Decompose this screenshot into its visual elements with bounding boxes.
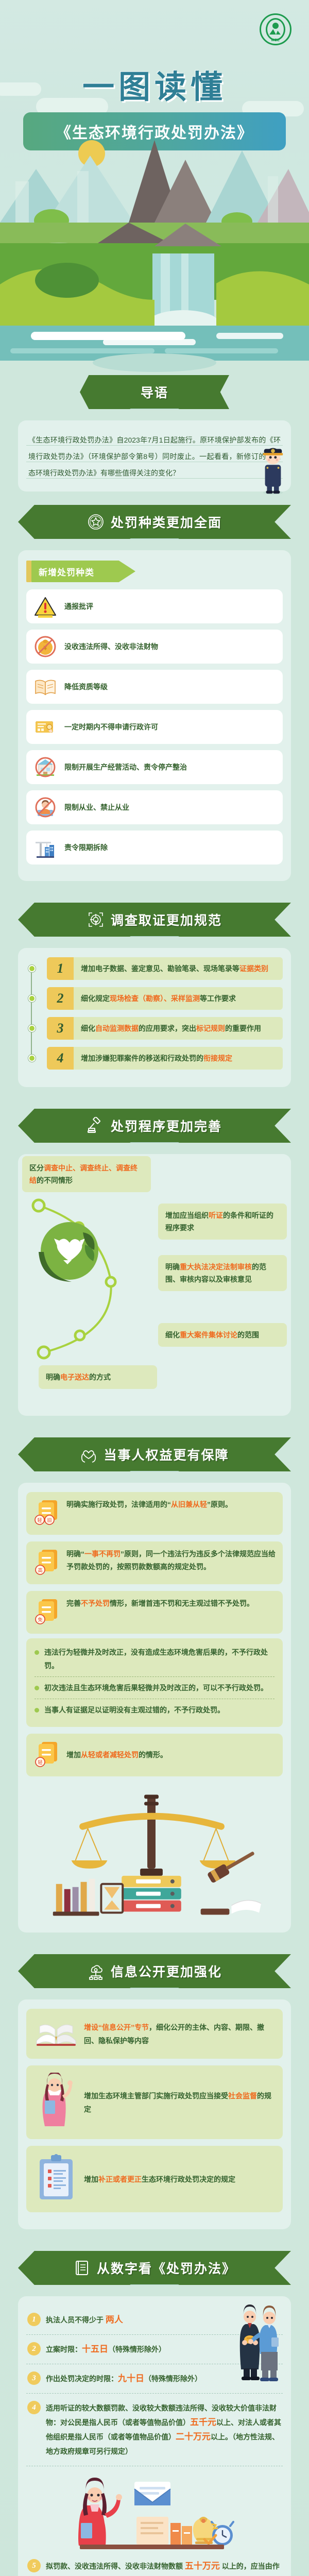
list-item-label: 通报批评 xyxy=(64,601,93,612)
emblem-label: MEE xyxy=(261,39,290,42)
bullet-text: 初次违法且生态环境危害后果轻微并及时改正的，可以不予行政处罚。 xyxy=(44,1681,268,1694)
procedure-bubble: 明确电子送达的方式 xyxy=(39,1365,157,1389)
procedure-bubble: 区分调查中止、调查终止、调查终结的不同情形 xyxy=(22,1156,151,1192)
woman-with-envelope-icon xyxy=(70,2469,239,2552)
svg-text:轻: 轻 xyxy=(37,1517,42,1523)
rights-row: 免 完善不予处罚情形，新增首违不罚和无主观过错不予处罚。 xyxy=(26,1591,283,1634)
numbers-card: 1 执法人员不得少于 两人 2 立案时限：十五日（特殊情形除外） 3 作出处罚决… xyxy=(18,2296,291,2576)
no-factory-icon xyxy=(33,755,57,779)
disclosure-row-text: 增加补正或者更正生态环境行政处罚决定的规定 xyxy=(84,2173,276,2186)
timeline-row: 2 细化规定现场检查（勘察）、采样监测等工作要求 xyxy=(47,987,283,1010)
mee-emblem-icon: MEE xyxy=(260,13,291,45)
row-text: 增加电子数据、鉴定意见、勘验笔录、现场笔录等证据类别 xyxy=(74,957,283,980)
row-text: 适用听证的较大数额罚款、没收较大数额违法所得、没收较大价值非法财物：对公民是指人… xyxy=(46,2401,282,2459)
no-worker-icon xyxy=(33,795,57,819)
number-row: 5 拟罚款、没收违法所得、没收非法财物数额 五十万元 以上的，应当由作出处罚决定… xyxy=(26,2552,283,2576)
target-scan-icon xyxy=(87,911,105,928)
investigation-timeline: 1 增加电子数据、鉴定意见、勘验笔录、现场笔录等证据类别 2 细化规定现场检查（… xyxy=(26,957,283,1070)
gavel-icon xyxy=(87,1117,105,1134)
list-item-label: 一定时期内不得申请行政许可 xyxy=(64,722,158,732)
list-item: 限制从业、禁止从业 xyxy=(26,790,283,824)
disclosure-row-text: 增设“信息公开”专节，细化公开的主体、内容、期限、撤回、隐私保护等内容 xyxy=(84,2021,276,2047)
section-banner-procedure: 处罚程序更加完善 xyxy=(18,1109,291,1143)
row-number: 1 xyxy=(47,957,74,980)
list-item: 限制开展生产经营活动、责令停产整治 xyxy=(26,750,283,784)
section-banner-numbers: 从数字看《处罚办法》 xyxy=(18,2251,291,2285)
sublabel-new-penalty-types: 新增处罚种类 xyxy=(26,561,135,582)
stamp-high-icon: 高 xyxy=(33,1548,61,1578)
penalty-types-card: 新增处罚种类 通报批评 ¥ 没收违法所得、没收非法财物 降低资质等级 一定时期内… xyxy=(18,550,291,881)
section-banner-intro: 导语 xyxy=(80,375,229,409)
warning-triangle-icon xyxy=(33,595,57,618)
rights-row: 轻旧 明确实施行政处罚，法律适用的“从旧兼从轻”原则。 xyxy=(26,1492,283,1535)
sublabel-text: 新增处罚种类 xyxy=(39,565,94,578)
banner-label: 从数字看《处罚办法》 xyxy=(97,2259,236,2277)
bullet-text: 违法行为轻微并及时改正，没有造成生态环境危害后果的，不予行政处罚。 xyxy=(44,1646,274,1672)
row-number: 4 xyxy=(27,2401,41,2414)
row-text: 细化自动监测数据的应用要求，突出标记规则的重要作用 xyxy=(74,1017,283,1040)
rights-card: 轻旧 明确实施行政处罚，法律适用的“从旧兼从轻”原则。 高 明确“一事不再罚”原… xyxy=(18,1483,291,1933)
svg-text:旧: 旧 xyxy=(47,1518,51,1523)
section-banner-penalty-types: 处罚种类更加全面 xyxy=(18,505,291,539)
timeline-row: 1 增加电子数据、鉴定意见、勘验笔录、现场笔录等证据类别 xyxy=(47,957,283,980)
procedure-bubble: 明确重大执法决定法制审核的范围、审核内容以及审核意见 xyxy=(158,1255,287,1291)
stamp-exempt-icon: 免 xyxy=(33,1597,61,1628)
svg-text:免: 免 xyxy=(38,1617,42,1622)
timeline-dot xyxy=(28,1055,36,1062)
rights-row-text: 明确“一事不再罚”原则，同一个违法行为违反多个法律规范应当给予罚款处罚的，按照罚… xyxy=(66,1548,276,1578)
disclosure-row-text: 增加生态环境主管部门实施行政处罚应当接受社会监督的规定 xyxy=(84,2089,276,2116)
row-number: 1 xyxy=(27,2313,41,2326)
rights-row-text: 完善不予处罚情形，新增首违不罚和无主观过错不予处罚。 xyxy=(66,1597,276,1628)
procedure-bubble: 增加应当组织听证的条件和听证的程序要求 xyxy=(158,1204,287,1240)
row-number: 2 xyxy=(47,987,74,1010)
rights-bullets: 违法行为轻微并及时改正，没有造成生态环境危害后果的，不予行政处罚。 初次违法且生… xyxy=(26,1638,283,1727)
disclosure-row: 增设“信息公开”专节，细化公开的主体、内容、期限、撤回、隐私保护等内容 xyxy=(26,2009,283,2059)
number-row: 4 适用听证的较大数额罚款、没收较大数额违法所得、没收较大价值非法财物：对公民是… xyxy=(26,2394,283,2466)
list-item-label: 降低资质等级 xyxy=(64,682,108,692)
svg-text:高: 高 xyxy=(38,1567,42,1573)
cloud-network-icon xyxy=(87,1962,105,1980)
svg-text:轻: 轻 xyxy=(38,1759,42,1765)
intro-card: 《生态环境行政处罚办法》自2023年7月1日起施行。原环境保护部发布的《环境行政… xyxy=(18,420,291,492)
open-book-icon xyxy=(33,675,57,699)
scales-of-justice-icon xyxy=(26,1783,283,1922)
row-text: 拟罚款、没收违法所得、没收非法财物数额 五十万元 以上的，应当由作出处罚决定的生… xyxy=(46,2559,282,2576)
hands-heart-icon xyxy=(80,1446,97,1463)
row-number: 3 xyxy=(27,2371,41,2385)
list-item-label: 限制开展生产经营活动、责令停产整治 xyxy=(64,762,187,772)
timeline-dot xyxy=(28,995,36,1002)
two-officials-icon xyxy=(236,2300,288,2382)
list-item: 通报批评 xyxy=(26,589,283,623)
book-lines-icon xyxy=(73,2259,91,2277)
bullet-item: 当事人有证据足以证明没有主观过错的，不予行政处罚。 xyxy=(35,1699,274,1721)
row-number: 3 xyxy=(47,1017,74,1040)
row-number: 2 xyxy=(27,2342,41,2355)
banner-label: 信息公开更加强化 xyxy=(111,1962,222,1980)
banner-label: 处罚种类更加全面 xyxy=(111,513,222,531)
rights-row-text: 明确实施行政处罚，法律适用的“从旧兼从轻”原则。 xyxy=(66,1498,276,1529)
banner-label: 调查取证更加规范 xyxy=(111,910,222,929)
procedure-bubble: 细化重大案件集体讨论的范围 xyxy=(158,1323,287,1347)
crane-demolition-icon xyxy=(33,836,57,859)
timeline-dot xyxy=(28,965,36,972)
disclosure-card: 增设“信息公开”专节，细化公开的主体、内容、期限、撤回、隐私保护等内容 增加生态… xyxy=(18,1999,291,2229)
section-banner-investigation: 调查取证更加规范 xyxy=(18,903,291,937)
list-item: 责令限期拆除 xyxy=(26,831,283,865)
section-banner-disclosure: 信息公开更加强化 xyxy=(18,1954,291,1988)
section-banner-rights: 当事人权益更有保障 xyxy=(18,1437,291,1471)
waterfall-landscape-illustration xyxy=(0,223,309,398)
list-item: 一定时期内不得申请行政许可 xyxy=(26,710,283,744)
star-medal-icon xyxy=(87,513,105,531)
open-book-white-icon xyxy=(33,2016,79,2052)
clipboard-icon xyxy=(33,2153,79,2205)
woman-pointing-icon xyxy=(33,2073,79,2132)
police-officer-icon xyxy=(258,441,288,495)
bullet-item: 违法行为轻微并及时改正，没有造成生态环境危害后果的，不予行政处罚。 xyxy=(35,1641,274,1677)
list-item-label: 没收违法所得、没收非法财物 xyxy=(64,641,158,652)
row-number: 4 xyxy=(47,1047,74,1070)
banner-label: 导语 xyxy=(141,383,168,401)
row-text: 增加涉嫌犯罪案件的移送和行政处罚的衔接规定 xyxy=(74,1047,283,1070)
rights-row: 轻 增加从轻或者减轻处罚的情形。 xyxy=(26,1734,283,1776)
rights-row-text: 增加从轻或者减轻处罚的情形。 xyxy=(66,1749,276,1761)
timeline-row: 3 细化自动监测数据的应用要求，突出标记规则的重要作用 xyxy=(47,1017,283,1040)
disclosure-row: 增加补正或者更正生态环境行政处罚决定的规定 xyxy=(26,2146,283,2212)
row-text: 细化规定现场检查（勘察）、采样监测等工作要求 xyxy=(74,987,283,1010)
investigation-card: 1 增加电子数据、鉴定意见、勘验笔录、现场笔录等证据类别 2 细化规定现场检查（… xyxy=(18,948,291,1087)
list-item-label: 责令限期拆除 xyxy=(64,842,108,853)
no-money-bag-icon: ¥ xyxy=(33,635,57,658)
banner-label: 处罚程序更加完善 xyxy=(111,1116,222,1135)
intro-text: 《生态环境行政处罚办法》自2023年7月1日起施行。原环境保护部发布的《环境行政… xyxy=(26,430,283,481)
rights-row: 高 明确“一事不再罚”原则，同一个违法行为违反多个法律规范应当给予罚款处罚的，按… xyxy=(26,1541,283,1584)
hero-banner: MEE 一图读懂 《生态环境行政处罚办法》 xyxy=(0,0,309,223)
page-title: 一图读懂 xyxy=(0,61,309,107)
bullet-item: 初次违法且生态环境危害后果轻微并及时改正的，可以不予行政处罚。 xyxy=(35,1677,274,1699)
procedure-card: 区分调查中止、调查终止、调查终结的不同情形 增加应当组织听证的条件和听证的程序要… xyxy=(18,1154,291,1416)
stamp-light-old-icon: 轻旧 xyxy=(33,1498,61,1529)
row-number: 5 xyxy=(27,2559,41,2572)
recycle-heart-leaf-icon xyxy=(33,1215,106,1287)
disclosure-row: 增加生态环境主管部门实施行政处罚应当接受社会监督的规定 xyxy=(26,2065,283,2139)
license-card-icon xyxy=(33,715,57,739)
bullet-text: 当事人有证据足以证明没有主观过错的，不予行政处罚。 xyxy=(44,1703,225,1717)
stamp-light-icon: 轻 xyxy=(33,1740,61,1770)
list-item: ¥ 没收违法所得、没收非法财物 xyxy=(26,630,283,664)
mountain-landscape-illustration xyxy=(0,120,309,223)
timeline-dot xyxy=(28,1025,36,1032)
timeline-row: 4 增加涉嫌犯罪案件的移送和行政处罚的衔接规定 xyxy=(47,1047,283,1070)
list-item: 降低资质等级 xyxy=(26,670,283,704)
list-item-label: 限制从业、禁止从业 xyxy=(64,802,129,812)
banner-label: 当事人权益更有保障 xyxy=(104,1445,229,1464)
